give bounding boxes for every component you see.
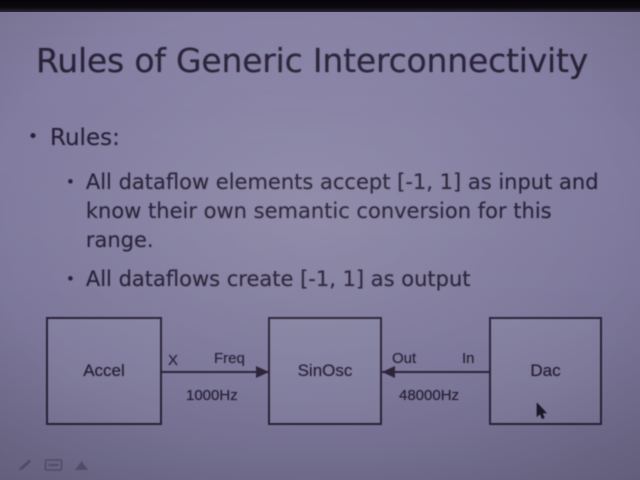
bullet-dataflow-output-label: All dataflows create [-1, 1] as output — [86, 265, 614, 294]
pointer-menu-icon[interactable] — [72, 458, 91, 472]
slide-navigator-icon[interactable] — [44, 458, 63, 472]
diagram-node-accel: Accel — [46, 317, 162, 425]
bullet-marker-icon: • — [66, 168, 75, 190]
projector-photo: Rules of Generic Interconnectivity • Rul… — [0, 0, 640, 480]
edge-label-accel-out-port: X — [168, 352, 178, 369]
slideshow-toolbar[interactable] — [0, 450, 640, 480]
bullet-dataflow-input-label: All dataflow elements accept [-1, 1] as … — [86, 168, 614, 255]
mouse-pointer-icon — [536, 403, 548, 420]
diagram-edge-dac-to-sinosc — [382, 371, 489, 373]
bullet-marker-icon: • — [66, 265, 75, 287]
edge-label-accel-rate: 1000Hz — [186, 387, 238, 404]
arrow-left-icon — [382, 366, 395, 378]
diagram-node-sinosc: SinOsc — [268, 317, 382, 425]
page-title: Rules of Generic Interconnectivity — [36, 42, 616, 80]
bullet-dataflow-input: • All dataflow elements accept [-1, 1] a… — [66, 168, 614, 255]
pen-icon[interactable] — [16, 458, 35, 472]
bullet-rules: • Rules: — [28, 124, 428, 152]
presentation-slide: Rules of Generic Interconnectivity • Rul… — [0, 12, 640, 480]
slide-content: Rules of Generic Interconnectivity • Rul… — [0, 12, 640, 480]
screen-bezel — [0, 0, 640, 12]
bullet-marker-icon: • — [28, 124, 38, 146]
bullet-dataflow-output: • All dataflows create [-1, 1] as output — [66, 265, 614, 294]
arrow-right-icon — [256, 366, 269, 378]
edge-label-dac-in-port: In — [462, 350, 475, 367]
bullet-rules-label: Rules: — [50, 124, 428, 152]
diagram-edge-accel-to-sinosc — [162, 371, 268, 373]
edge-label-dac-rate: 48000Hz — [399, 387, 459, 404]
edge-label-sinosc-out-port: Out — [392, 350, 416, 367]
edge-label-sinosc-freq-port: Freq — [214, 350, 245, 367]
